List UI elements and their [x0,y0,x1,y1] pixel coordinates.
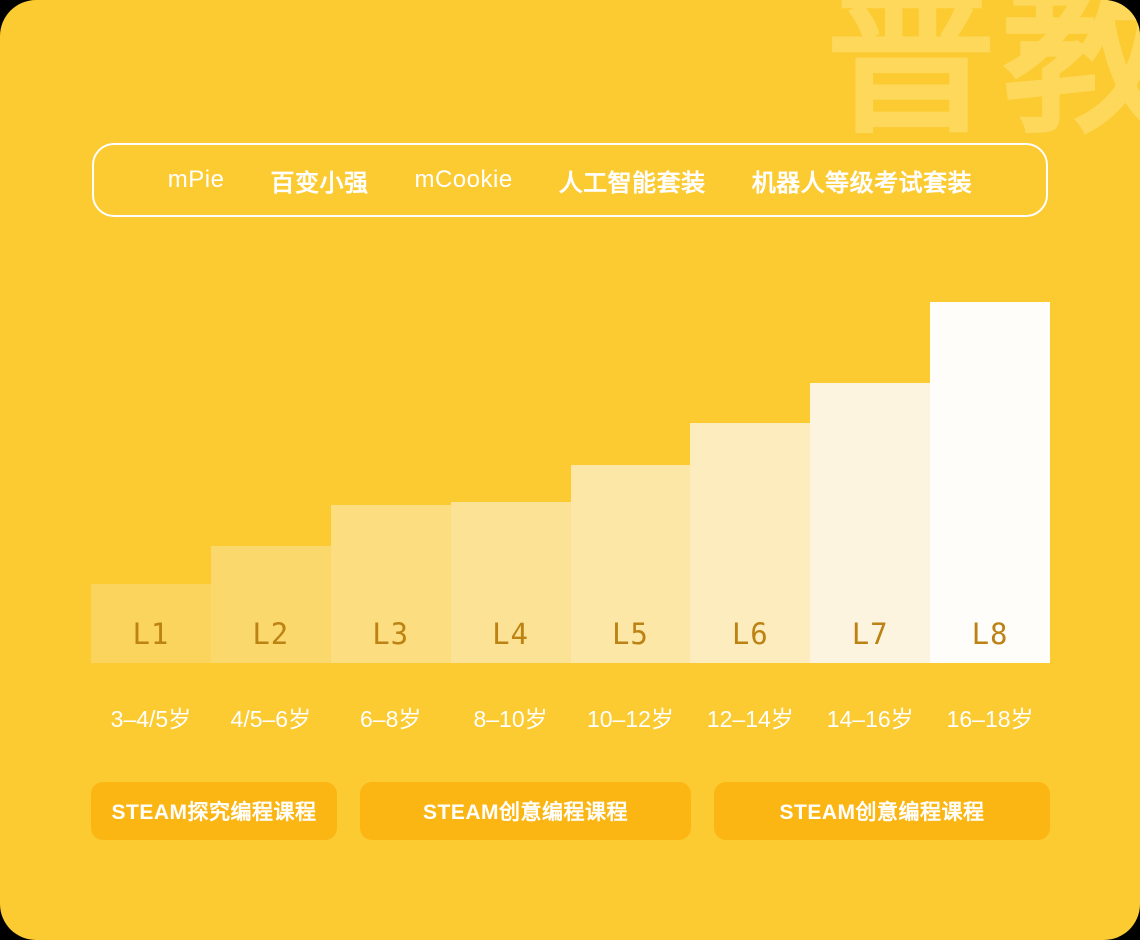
product-item-mpie[interactable]: mPie [145,166,248,194]
age-range-l8: 16–18岁 [930,700,1050,734]
age-range-row: 3–4/5岁 4/5–6岁 6–8岁 8–10岁 10–12岁 12–14岁 1… [91,700,1050,734]
age-range-l5: 10–12岁 [571,700,691,734]
bar-l2[interactable]: L2 [211,546,331,663]
bar-label-l4: L4 [451,620,571,649]
bar-l7[interactable]: L7 [810,383,930,663]
product-item-mcookie[interactable]: mCookie [391,166,535,194]
bar-l3[interactable]: L3 [331,505,451,663]
bar-label-l5: L5 [571,620,691,649]
bar-label-l2: L2 [211,620,331,649]
product-item-ai-kit[interactable]: 人工智能套装 [536,163,729,198]
age-range-l6: 12–14岁 [690,700,810,734]
age-range-l2: 4/5–6岁 [211,700,331,734]
product-item-robot-exam-kit[interactable]: 机器人等级考试套装 [729,163,996,198]
watermark-text: 普教 [826,0,1140,144]
course-button-creative-2[interactable]: STEAM创意编程课程 [714,782,1050,840]
bar-l8[interactable]: L8 [930,302,1050,663]
age-range-l3: 6–8岁 [331,700,451,734]
course-level-card: 普教 mPie 百变小强 mCookie 人工智能套装 机器人等级考试套装 L1… [0,0,1140,940]
bar-l1[interactable]: L1 [91,584,211,663]
bar-label-l7: L7 [810,620,930,649]
product-item-baibianxiaoqiang[interactable]: 百变小强 [247,163,391,198]
bar-label-l6: L6 [690,620,810,649]
course-track-row: STEAM探究编程课程 STEAM创意编程课程 STEAM创意编程课程 [91,782,1050,840]
bar-l5[interactable]: L5 [571,465,691,663]
bar-l4[interactable]: L4 [451,502,571,663]
age-range-l7: 14–16岁 [810,700,930,734]
product-series-pill: mPie 百变小强 mCookie 人工智能套装 机器人等级考试套装 [92,143,1048,217]
course-button-creative-1[interactable]: STEAM创意编程课程 [360,782,691,840]
bar-l6[interactable]: L6 [690,423,810,663]
course-button-explore[interactable]: STEAM探究编程课程 [91,782,337,840]
level-bar-chart: L1 L2 L3 L4 L5 L6 L7 L8 [91,295,1050,663]
age-range-l1: 3–4/5岁 [91,700,211,734]
bar-label-l1: L1 [91,620,211,649]
bar-label-l8: L8 [930,620,1050,649]
age-range-l4: 8–10岁 [451,700,571,734]
bar-label-l3: L3 [331,620,451,649]
